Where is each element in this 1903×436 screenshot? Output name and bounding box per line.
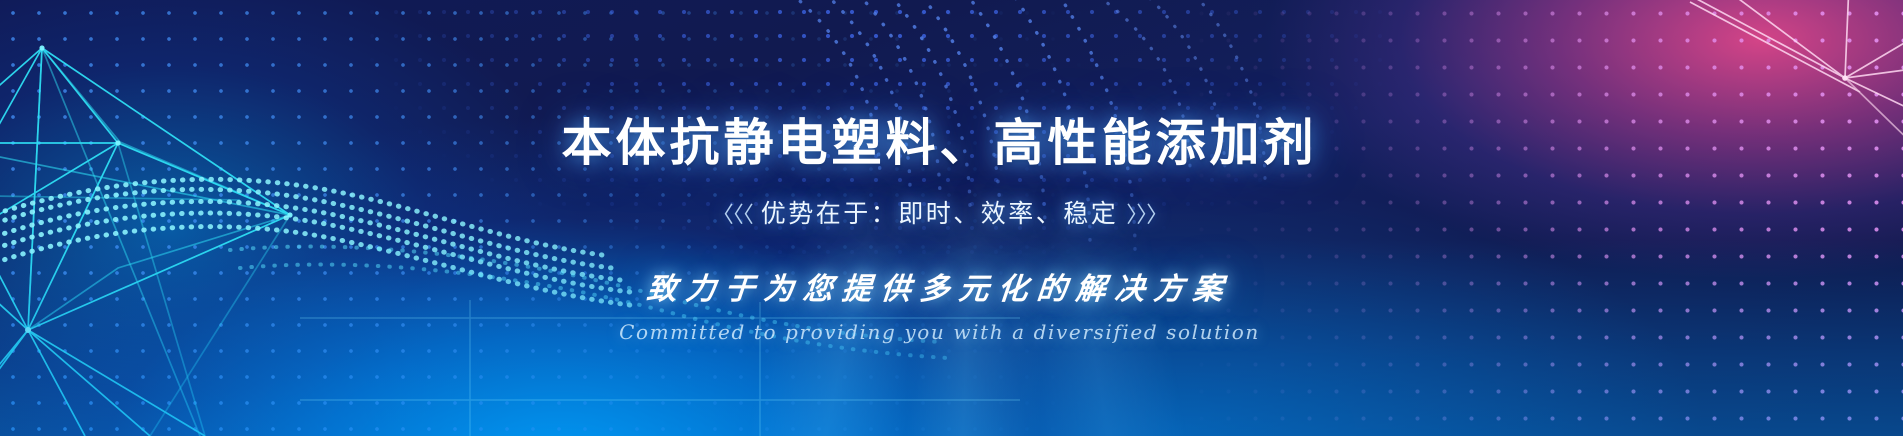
- banner-slogan-en: Committed to providing you with a divers…: [619, 320, 1260, 344]
- banner-subtitle: 〈〈〈优势在于：即时、效率、稳定〉〉〉: [704, 194, 1176, 230]
- banner-content: 本体抗静电塑料、高性能添加剂 〈〈〈优势在于：即时、效率、稳定〉〉〉 致力于为您…: [0, 0, 1903, 436]
- banner-subtitle-text: 优势在于：即时、效率、稳定: [761, 200, 1119, 228]
- chevron-left-icon: 〈〈〈: [704, 202, 761, 227]
- hero-banner: 本体抗静电塑料、高性能添加剂 〈〈〈优势在于：即时、效率、稳定〉〉〉 致力于为您…: [0, 0, 1903, 436]
- banner-slogan-cn: 致力于为您提供多元化的解决方案: [645, 264, 1234, 308]
- chevron-right-icon: 〉〉〉: [1118, 202, 1175, 227]
- banner-title: 本体抗静电塑料、高性能添加剂: [562, 118, 1318, 168]
